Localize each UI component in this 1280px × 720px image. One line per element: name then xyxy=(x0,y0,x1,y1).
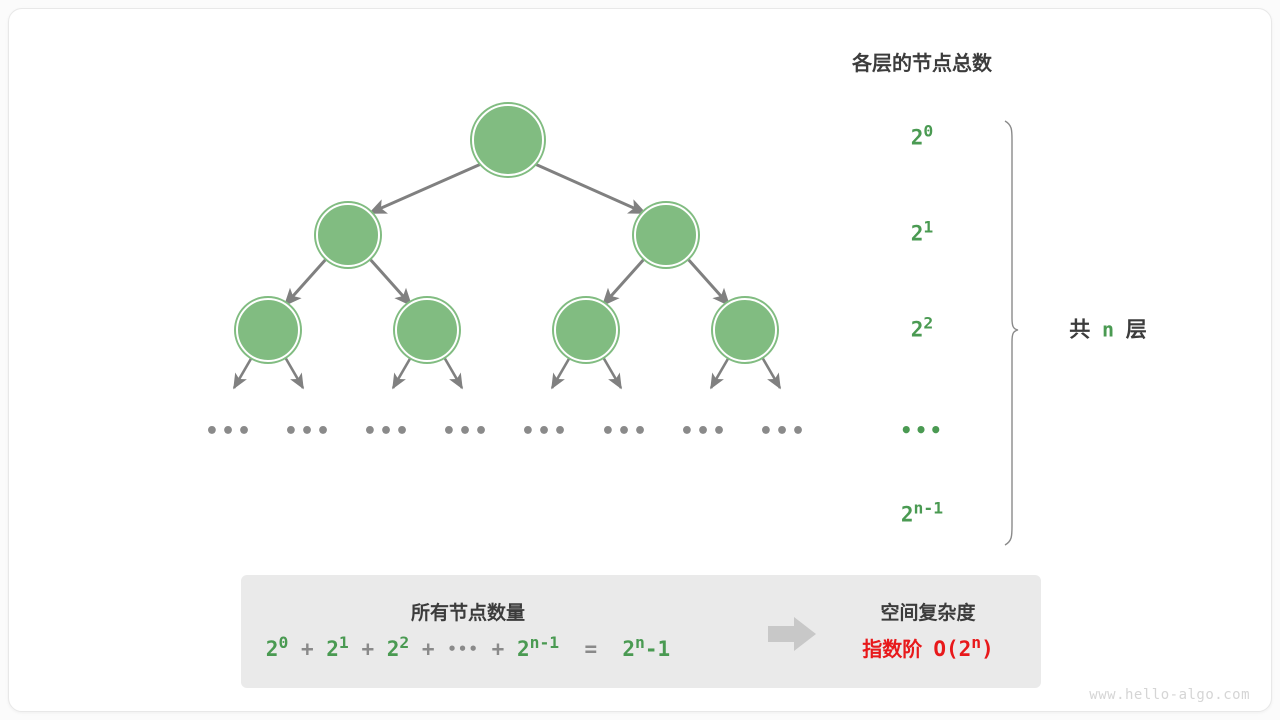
complexity-exp: n xyxy=(971,633,981,652)
formula-exp: n-1 xyxy=(530,633,560,652)
formula-operator: + xyxy=(492,637,505,661)
complexity-prefix: 指数阶 xyxy=(862,639,922,661)
summary-right-cell: 空间复杂度 指数阶 O(2n) xyxy=(862,604,994,660)
watermark: www.hello-algo.com xyxy=(1089,688,1250,702)
formula-ellipsis: ••• xyxy=(447,640,479,658)
summary-left-cell: 所有节点数量 20 + 21 + 22 + ••• + 2n-1 = 2n-1 xyxy=(266,604,670,660)
formula-operator: + xyxy=(422,637,435,661)
formula-equals: = xyxy=(584,637,597,661)
right-arrow-icon xyxy=(768,617,816,651)
summary-complexity: 指数阶 O(2n) xyxy=(862,639,994,660)
summary-left-title: 所有节点数量 xyxy=(266,604,670,623)
formula-operator: + xyxy=(301,637,314,661)
summary-right-title: 空间复杂度 xyxy=(862,604,994,623)
formula-exp: 0 xyxy=(278,633,288,652)
formula-exp: 2 xyxy=(399,633,409,652)
diagram-canvas: ••• ••• ••• ••• ••• ••• ••• ••• 各层的节点总数 … xyxy=(0,0,1280,720)
summary-arrow xyxy=(766,615,820,653)
formula-operator: + xyxy=(361,637,374,661)
formula-exp: n xyxy=(635,633,645,652)
complexity-notation: O(2n) xyxy=(933,637,993,661)
summary-formula: 20 + 21 + 22 + ••• + 2n-1 = 2n-1 xyxy=(266,639,670,660)
formula-exp: 1 xyxy=(339,633,349,652)
summary-content-layer: 所有节点数量 20 + 21 + 22 + ••• + 2n-1 = 2n-1 … xyxy=(0,0,1280,720)
